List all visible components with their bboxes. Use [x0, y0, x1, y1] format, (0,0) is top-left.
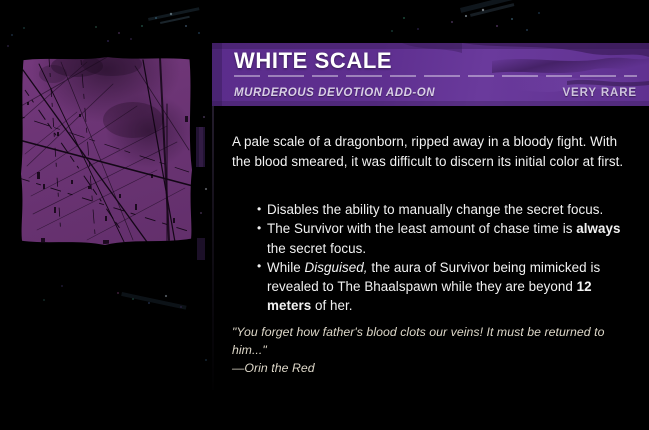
flavor-text-block: "You forget how father's blood clots our… [232, 324, 642, 378]
effects-list: Disables the ability to manually change … [257, 200, 639, 316]
effect-item: The Survivor with the least amount of ch… [257, 219, 639, 258]
card-description: A pale scale of a dragonborn, ripped awa… [232, 132, 634, 171]
card-header-banner: WHITE SCALE MURDEROUS DEVOTION ADD-ON VE… [212, 43, 649, 106]
icon-scratch-texture [17, 54, 195, 246]
body-left-accent [212, 106, 214, 390]
title-divider [234, 75, 637, 77]
card-subtitle: MURDEROUS DEVOTION ADD-ON [234, 85, 435, 101]
rarity-label: VERY RARE [562, 85, 637, 101]
card-title: WHITE SCALE [234, 48, 392, 74]
card-body: A pale scale of a dragonborn, ripped awa… [212, 106, 649, 390]
effect-item: While Disguised, the aura of Survivor be… [257, 258, 639, 316]
effect-item: Disables the ability to manually change … [257, 200, 639, 219]
flavor-author: —Orin the Red [232, 360, 642, 378]
addon-card: WHITE SCALE MURDEROUS DEVOTION ADD-ON VE… [0, 0, 649, 430]
white-scale-addon-icon[interactable] [17, 54, 195, 246]
flavor-quote: "You forget how father's blood clots our… [232, 325, 605, 357]
